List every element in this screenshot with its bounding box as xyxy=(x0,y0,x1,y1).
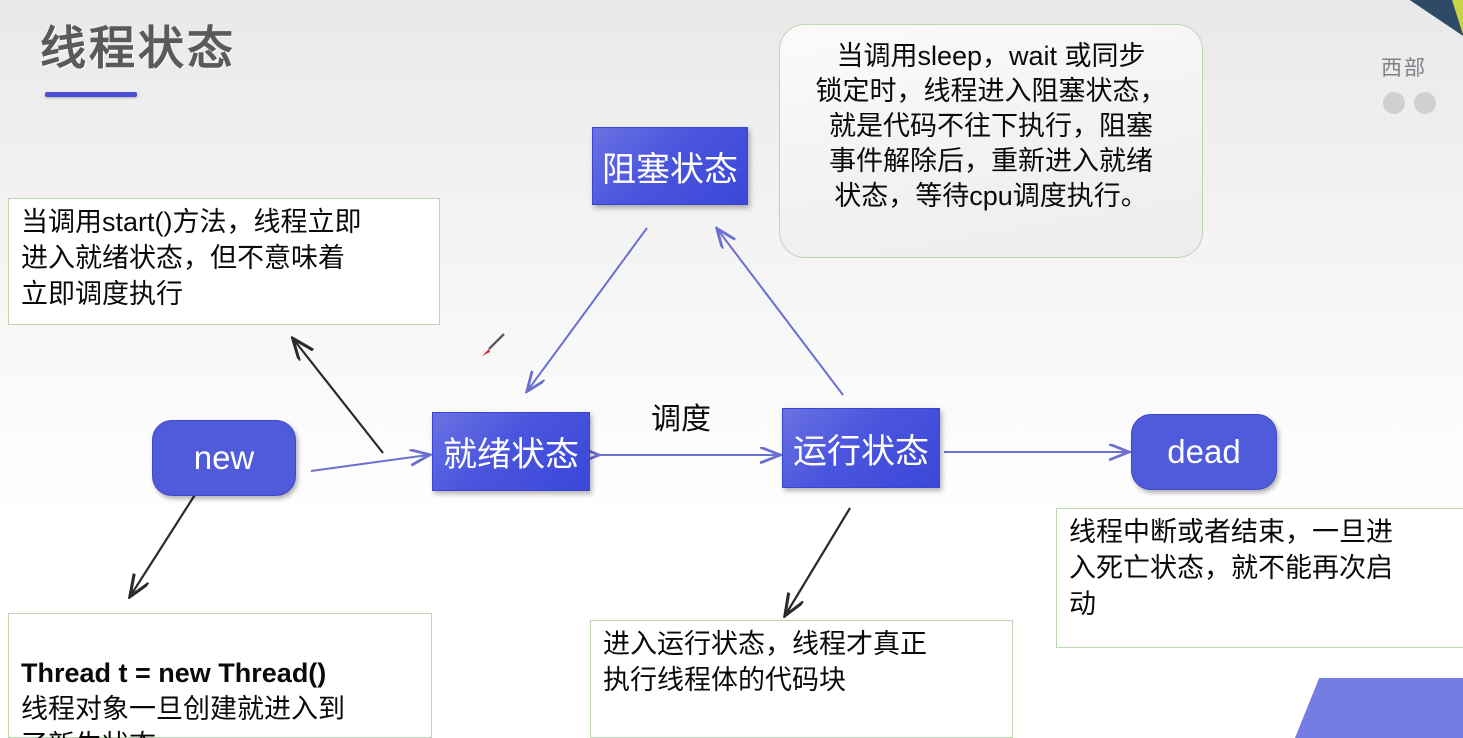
note-start-method: 当调用start()方法，线程立即 进入就绪状态，但不意味着 立即调度执行 xyxy=(8,198,440,325)
slide-canvas: 西部 线程状态 xyxy=(0,0,1463,738)
note-new-code-line: Thread t = new Thread() xyxy=(21,658,326,688)
state-node-new-label: new xyxy=(194,439,255,477)
state-node-ready[interactable]: 就绪状态 xyxy=(432,412,590,491)
title-underline-rule xyxy=(45,92,137,97)
logo-dots xyxy=(1373,92,1463,119)
brand-logo: 西部 xyxy=(1373,52,1463,119)
logo-dot-2 xyxy=(1414,92,1436,114)
state-node-ready-label: 就绪状态 xyxy=(443,427,579,476)
navy-triangle-shape xyxy=(1392,0,1463,50)
periwinkle-parallelogram-shape xyxy=(1283,678,1463,738)
state-node-new[interactable]: new xyxy=(152,420,296,496)
edge-blocked-to-ready xyxy=(528,228,647,390)
note-dead-state: 线程中断或者结束，一旦进 入死亡状态，就不能再次启 动 xyxy=(1056,508,1463,648)
state-node-dead-label: dead xyxy=(1167,433,1240,471)
state-node-running[interactable]: 运行状态 xyxy=(782,408,940,488)
annotation-running-to-running-note xyxy=(786,508,850,614)
pen-cursor-icon xyxy=(478,330,508,360)
state-node-blocked[interactable]: 阻塞状态 xyxy=(592,127,748,205)
edge-new-to-ready xyxy=(311,455,428,471)
annotation-new-to-new-note xyxy=(131,490,198,595)
state-node-blocked-label: 阻塞状态 xyxy=(602,142,738,191)
logo-dot-1 xyxy=(1383,92,1405,114)
lime-triangle-shape xyxy=(1452,0,1463,44)
edge-label-schedule: 调度 xyxy=(651,394,711,438)
state-node-dead[interactable]: dead xyxy=(1131,414,1277,490)
note-blocked-explanation: 当调用sleep，wait 或同步 锁定时，线程进入阻塞状态， 就是代码不往下执… xyxy=(779,24,1203,258)
note-new-state: Thread t = new Thread() 线程对象一旦创建就进入到 了新生… xyxy=(8,613,432,738)
top-right-corner-decoration xyxy=(1373,0,1463,60)
annotation-ready-to-start-note xyxy=(294,340,383,453)
note-new-description: 线程对象一旦创建就进入到 了新生状态 xyxy=(21,694,345,738)
state-node-running-label: 运行状态 xyxy=(793,424,929,473)
logo-text: 西部 xyxy=(1373,52,1463,82)
note-running-state: 进入运行状态，线程才真正 执行线程体的代码块 xyxy=(590,620,1013,738)
bottom-right-corner-decoration xyxy=(1273,668,1463,738)
page-title: 线程状态 xyxy=(40,12,236,78)
